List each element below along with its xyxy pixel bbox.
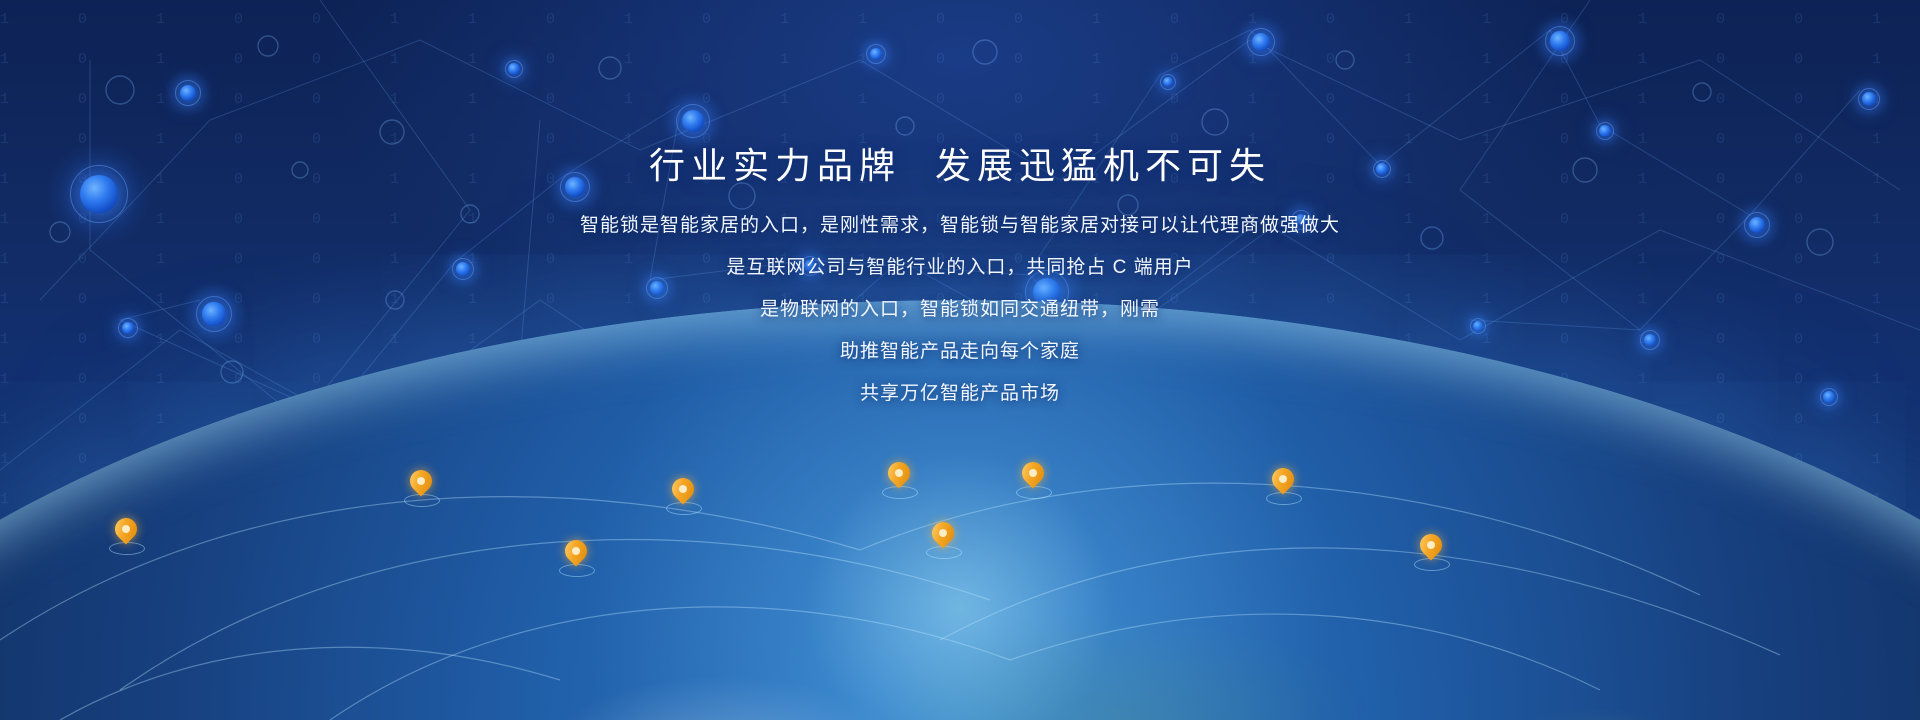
banner-subtext: 智能锁是智能家居的入口，是刚性需求，智能锁与智能家居对接可以让代理商做强做大是互… — [0, 205, 1920, 415]
pin-marker-7 — [1022, 462, 1044, 494]
pin-marker-9 — [1420, 534, 1442, 566]
pin-marker-4 — [672, 478, 694, 510]
banner-line-4: 助推智能产品走向每个家庭 — [0, 331, 1920, 373]
banner-line-1: 智能锁是智能家居的入口，是刚性需求，智能锁与智能家居对接可以让代理商做强做大 — [0, 205, 1920, 247]
pin-marker-3 — [565, 540, 587, 572]
banner-hero: 1 0 1 0 0 1 1 0 1 0 1 1 0 0 1 0 1 0 1 1 … — [0, 0, 1920, 720]
banner-line-2: 是互联网公司与智能行业的入口，共同抢占 C 端用户 — [0, 247, 1920, 289]
pin-marker-8 — [1272, 468, 1294, 500]
title-right: 发展迅猛机不可失 — [935, 145, 1271, 186]
title-left: 行业实力品牌 — [649, 145, 901, 186]
banner-line-5: 共享万亿智能产品市场 — [0, 373, 1920, 415]
pin-marker-6 — [932, 522, 954, 554]
pin-marker-1 — [115, 518, 137, 550]
pin-marker-5 — [888, 462, 910, 494]
page-title: 行业实力品牌发展迅猛机不可失 — [0, 0, 1920, 187]
banner-line-3: 是物联网的入口，智能锁如同交通纽带，刚需 — [0, 289, 1920, 331]
banner-copy: 行业实力品牌发展迅猛机不可失 智能锁是智能家居的入口，是刚性需求，智能锁与智能家… — [0, 0, 1920, 415]
pin-marker-2 — [410, 470, 432, 502]
